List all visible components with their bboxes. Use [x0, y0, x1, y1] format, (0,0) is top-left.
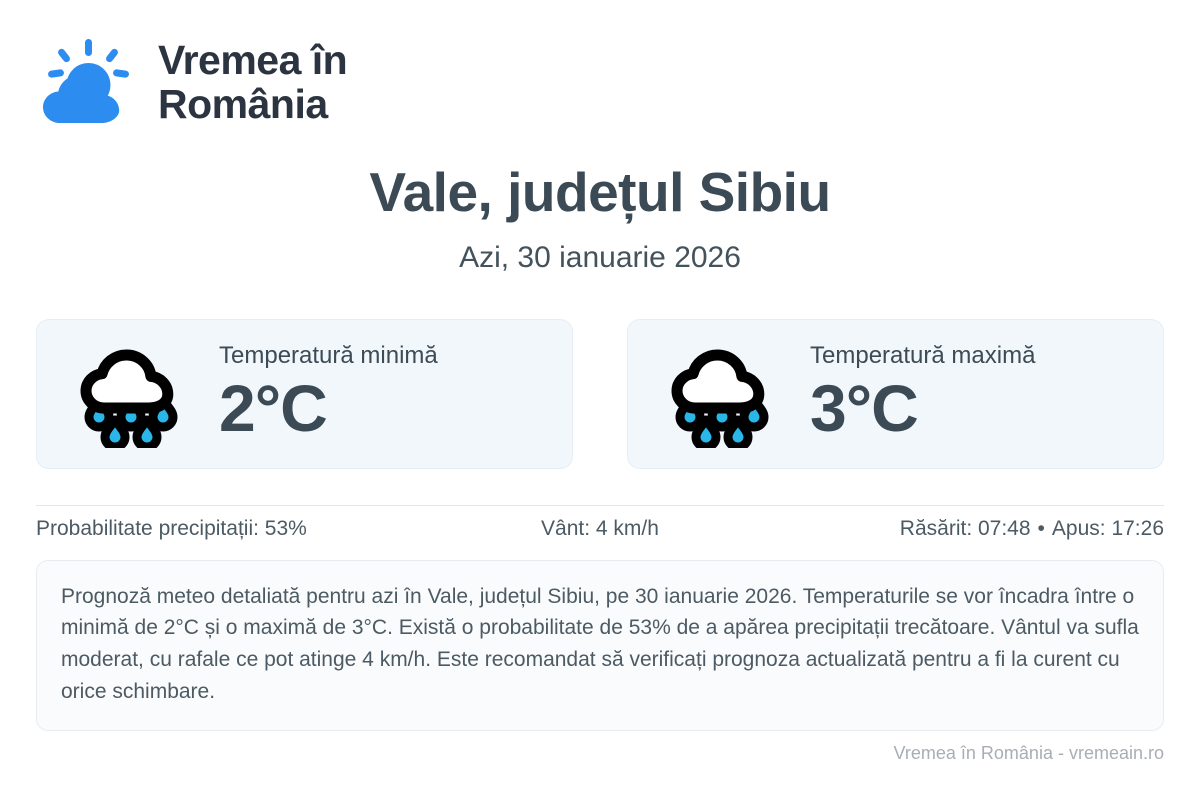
card-body: Temperatură maximă 3°C [810, 342, 1035, 444]
page-subtitle: Azi, 30 ianuarie 2026 [36, 241, 1164, 275]
card-label: Temperatură maximă [810, 342, 1035, 371]
rain-cloud-icon [71, 340, 191, 448]
sun-behind-cloud-icon [36, 37, 140, 129]
stat-precipitation: Probabilitate precipitații: 53% [36, 517, 412, 541]
forecast-description: Prognoză meteo detaliată pentru azi în V… [36, 560, 1164, 732]
card-value: 3°C [810, 373, 1035, 444]
temperature-cards: Temperatură minimă 2°C Temper [36, 319, 1164, 469]
brand-header[interactable]: Vremea în România [36, 0, 1164, 120]
stat-separator: • [1031, 517, 1052, 540]
stat-wind: Vânt: 4 km/h [412, 517, 788, 541]
footer-credit: Vremea în România - vremeain.ro [894, 743, 1164, 764]
card-body: Temperatură minimă 2°C [219, 342, 438, 444]
card-label: Temperatură minimă [219, 342, 438, 371]
card-min-temperature: Temperatură minimă 2°C [36, 319, 573, 469]
title-block: Vale, județul Sibiu Azi, 30 ianuarie 202… [36, 162, 1164, 275]
rain-cloud-icon [662, 340, 782, 448]
page-title: Vale, județul Sibiu [36, 162, 1164, 223]
stat-sun-times: Răsărit: 07:48•Apus: 17:26 [788, 517, 1164, 541]
brand-name: Vremea în România [158, 39, 347, 127]
stat-sunset: Apus: 17:26 [1052, 517, 1164, 540]
weather-page: Vremea în România Vale, județul Sibiu Az… [0, 0, 1200, 800]
stats-row: Probabilitate precipitații: 53% Vânt: 4 … [36, 506, 1164, 552]
card-value: 2°C [219, 373, 438, 444]
card-max-temperature: Temperatură maximă 3°C [627, 319, 1164, 469]
stat-sunrise: Răsărit: 07:48 [900, 517, 1031, 540]
